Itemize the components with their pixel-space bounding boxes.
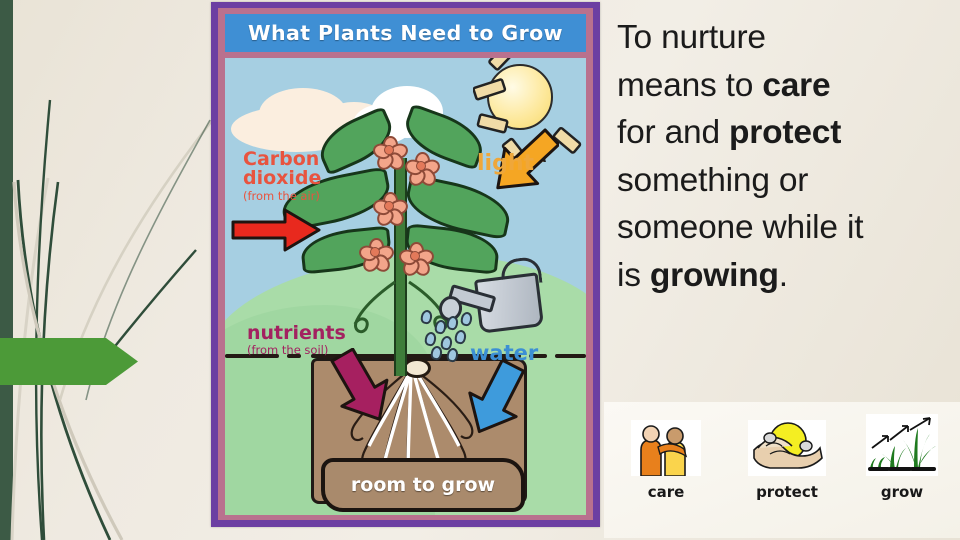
definition-bold-protect: protect	[729, 114, 841, 151]
label-nutrients-sub: (from the soil)	[247, 345, 346, 357]
poster-scene: Carbon dioxide (from the air) light nutr…	[225, 58, 586, 515]
flower	[401, 242, 427, 268]
label-carbon-dioxide-sub: (from the air)	[243, 191, 321, 203]
room-to-grow-text: room to grow	[351, 474, 495, 496]
definition-text: To nurture means to care for and protect…	[617, 14, 947, 299]
flower	[407, 152, 433, 178]
grass-blades-svg	[0, 0, 220, 540]
label-water: water	[470, 343, 538, 364]
nutrients-arrow	[311, 348, 391, 440]
symbol-care-label: care	[618, 483, 714, 501]
label-carbon-dioxide: Carbon dioxide (from the air)	[243, 150, 321, 202]
grass-decoration	[0, 0, 220, 540]
symbol-protect-label: protect	[732, 483, 842, 501]
poster-title-band: What Plants Need to Grow	[225, 14, 586, 52]
label-water-text: water	[470, 341, 538, 365]
carbon-dioxide-arrow	[231, 208, 323, 256]
definition-bold-growing: growing	[650, 257, 779, 294]
definition-line-3: for and	[617, 114, 729, 151]
label-light: light	[477, 153, 534, 175]
growing-plants-icon	[866, 414, 938, 476]
definition-line-2: means to	[617, 67, 762, 104]
hands-cupping-icon	[748, 420, 826, 476]
two-people-icon	[631, 420, 701, 476]
flower	[375, 136, 401, 162]
symbol-care[interactable]: care	[618, 420, 714, 501]
definition-bold-care: care	[762, 67, 830, 104]
symbol-grow-label: grow	[852, 483, 952, 501]
definition-line-1: To nurture	[617, 19, 766, 56]
label-nutrients-text: nutrients	[247, 322, 346, 344]
label-light-text: light	[477, 151, 534, 176]
ground-line-dash	[555, 354, 586, 358]
root-crown	[403, 358, 431, 378]
definition-line-6: is	[617, 257, 650, 294]
poster-title: What Plants Need to Grow	[248, 21, 563, 45]
symbol-grow[interactable]: grow	[852, 414, 952, 501]
flower	[361, 238, 387, 264]
poster-image: What Plants Need to Grow	[211, 2, 600, 527]
flower	[375, 192, 401, 218]
definition-period: .	[779, 257, 788, 294]
symbol-panel: care protect	[604, 402, 960, 538]
definition-line-4: something or	[617, 162, 808, 199]
label-carbon-dioxide-line2: dioxide	[243, 167, 321, 189]
label-nutrients: nutrients (from the soil)	[247, 324, 346, 357]
room-to-grow-plaque: room to grow	[321, 458, 525, 512]
slide-canvas: What Plants Need to Grow	[0, 0, 960, 540]
definition-line-5: someone while it	[617, 209, 863, 246]
symbol-protect[interactable]: protect	[732, 420, 842, 501]
